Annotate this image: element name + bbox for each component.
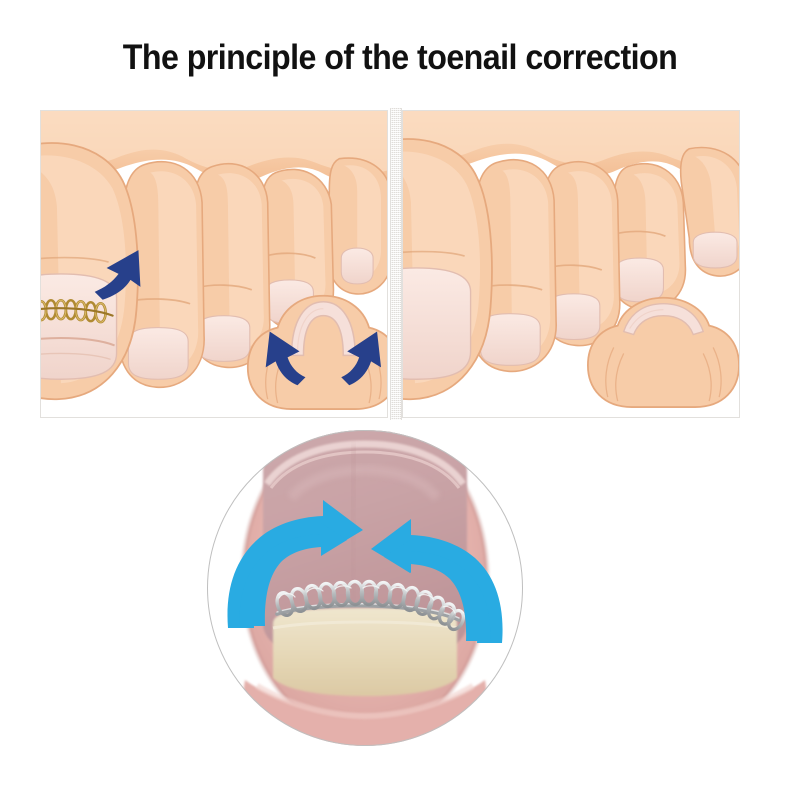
after-correction-panel bbox=[402, 110, 740, 418]
toenail-second bbox=[128, 328, 188, 380]
toenail-third bbox=[198, 316, 250, 362]
toenail-big-healthy bbox=[403, 268, 471, 379]
panel-divider-strip bbox=[390, 108, 402, 420]
before-correction-panel bbox=[40, 110, 388, 418]
toenail-fourth bbox=[616, 258, 664, 302]
toe-fourth bbox=[610, 164, 686, 310]
toenail-brace-photo bbox=[205, 428, 525, 748]
page-title: The principle of the toenail correction bbox=[32, 38, 768, 78]
comparison-panels bbox=[40, 110, 740, 418]
nail-free-edge bbox=[273, 608, 457, 696]
toenail-little bbox=[693, 232, 737, 268]
page-root: The principle of the toenail correction bbox=[0, 0, 800, 800]
before-correction-illustration bbox=[41, 111, 387, 417]
toe-little bbox=[327, 158, 387, 294]
toenail-little bbox=[341, 248, 373, 284]
after-correction-illustration bbox=[403, 111, 739, 417]
toenail-brace-photo-svg bbox=[205, 428, 525, 748]
